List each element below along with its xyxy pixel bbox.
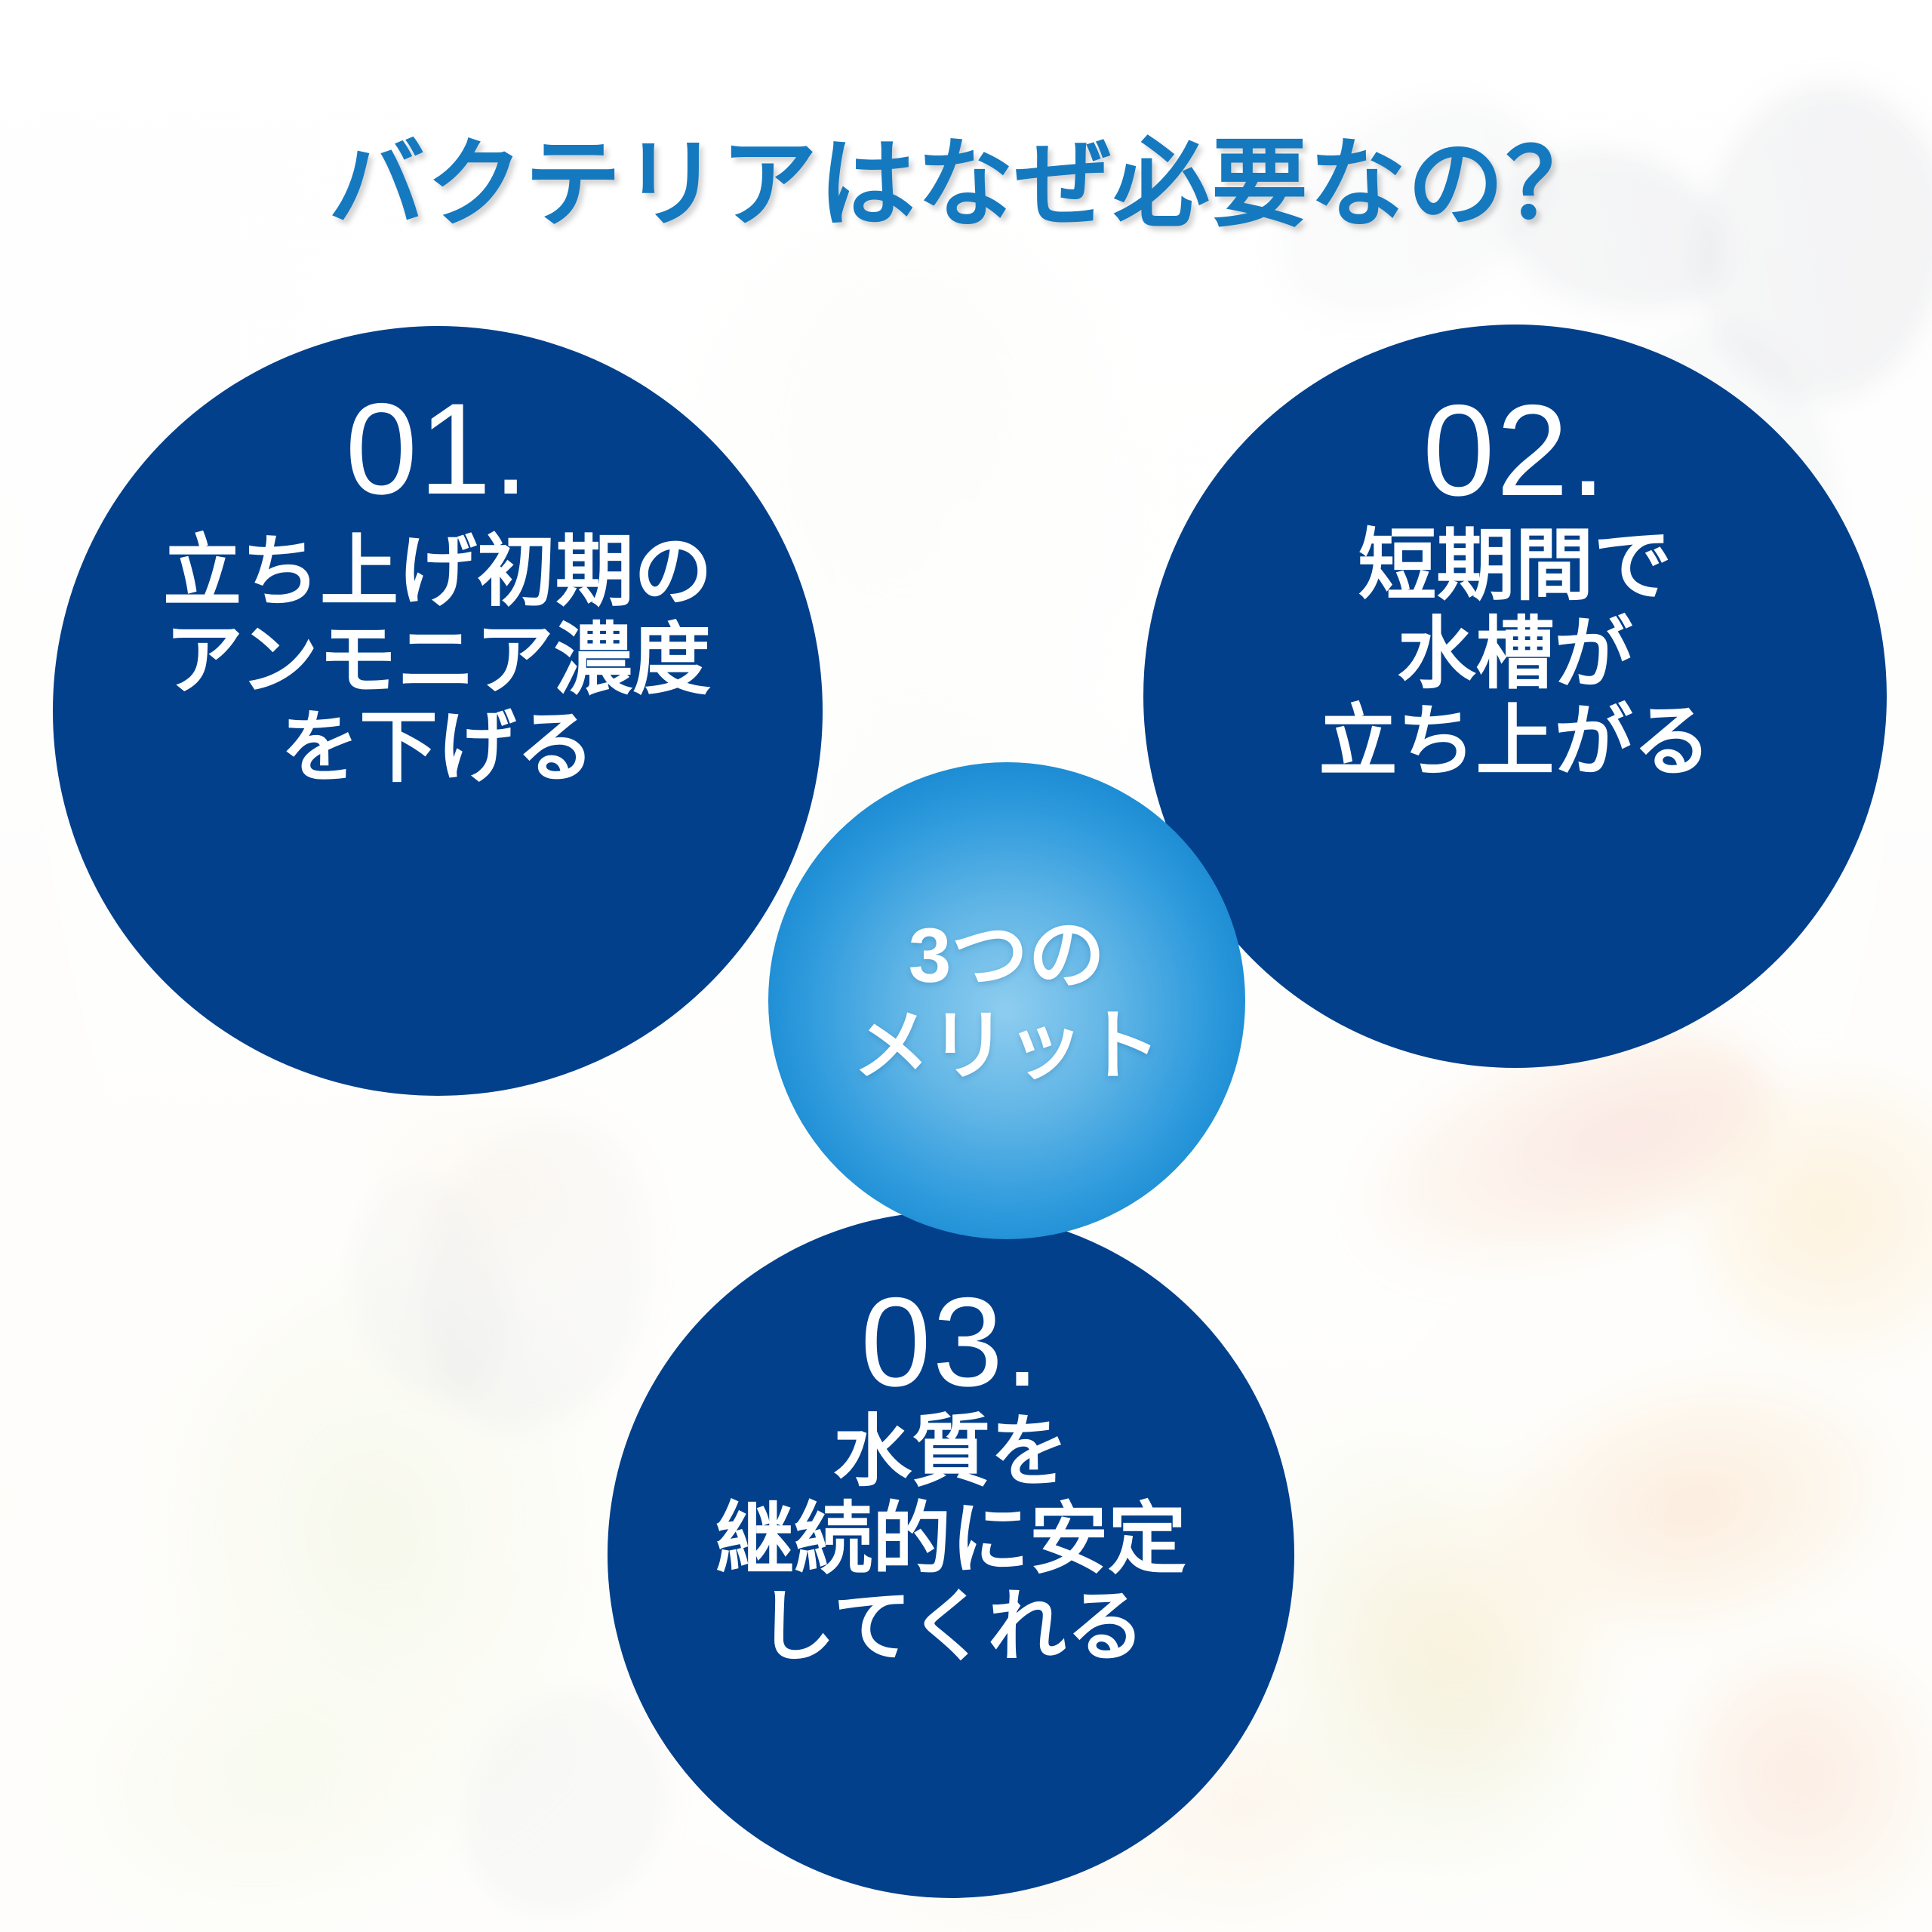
- benefit-number-01: 01.: [345, 389, 530, 509]
- benefit-number-03: 03.: [860, 1284, 1041, 1401]
- benefit-number-02: 02.: [1423, 391, 1607, 510]
- goldfish-icon: [1298, 1479, 1615, 1796]
- benefit-text-03: 水質を 継続的に安定 してくれる: [715, 1408, 1186, 1672]
- benefit-text-01: 立ち上げ初期の アンモニア濃度 を下げる: [163, 528, 712, 792]
- page-title: バクテリアはなぜ必要なの？: [0, 106, 1932, 245]
- goldfish-icon: [1675, 1645, 1932, 1932]
- center-merit-label: 3つの メリット: [853, 910, 1161, 1092]
- benefit-bubble-01: 01. 立ち上げ初期の アンモニア濃度 を下げる: [53, 326, 823, 1096]
- benefit-text-02: 短期間で 水槽が 立ち上がる: [1318, 522, 1711, 786]
- center-merit-bubble: 3つの メリット: [768, 762, 1245, 1239]
- benefit-bubble-03: 03. 水質を 継続的に安定 してくれる: [608, 1211, 1294, 1898]
- aquatic-plant-icon: [45, 1630, 468, 1932]
- benefit-bubble-02: 02. 短期間で 水槽が 立ち上がる: [1143, 325, 1887, 1068]
